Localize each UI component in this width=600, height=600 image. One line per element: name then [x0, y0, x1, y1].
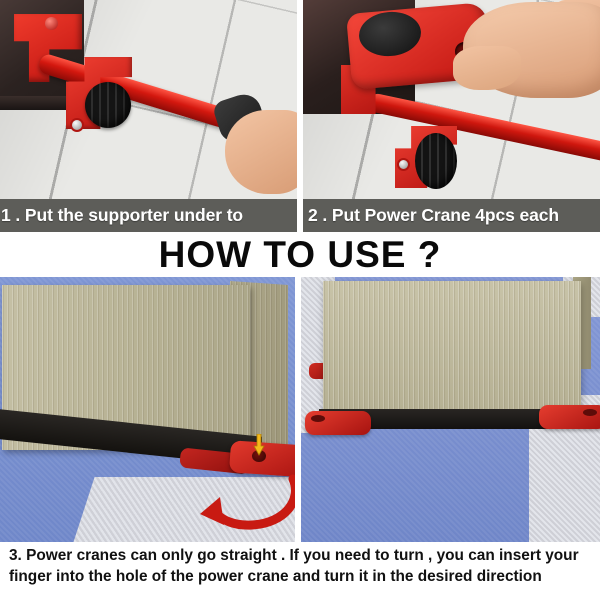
caption-line-2: finger into the hole of the power crane …	[9, 567, 591, 588]
arrow-rotate-icon	[190, 473, 295, 539]
step-2-photo	[303, 0, 600, 199]
roller-wheel	[85, 82, 131, 128]
step-1-label: 1 . Put the supporter under to	[0, 199, 297, 232]
caption-line-1: 3. Power cranes can only go straight . I…	[9, 546, 591, 567]
roller-axle-icon	[70, 118, 84, 132]
roller-axle-icon	[397, 158, 410, 171]
wooden-cabinet	[323, 281, 581, 415]
thumb	[453, 46, 521, 90]
how-to-use-banner: HOW TO USE ?	[0, 233, 600, 277]
step-2-label: 2 . Put Power Crane 4pcs each	[303, 199, 600, 232]
step-4-photo	[301, 277, 600, 542]
banner-heading: HOW TO USE ?	[159, 234, 442, 276]
step-1-photo	[0, 0, 297, 199]
power-crane-finger-hole-left	[311, 415, 325, 422]
step-3-caption: 3. Power cranes can only go straight . I…	[0, 546, 600, 600]
how-to-use-infographic: 1 . Put the supporter under to 2 . Put P…	[0, 0, 600, 600]
dark-furniture-base	[0, 96, 68, 110]
roller-wheel	[415, 133, 457, 189]
arrow-down-icon	[253, 434, 265, 456]
power-crane-finger-hole-right	[583, 409, 597, 416]
lever-bolt-icon	[45, 17, 58, 30]
step-3-photo	[0, 277, 295, 542]
